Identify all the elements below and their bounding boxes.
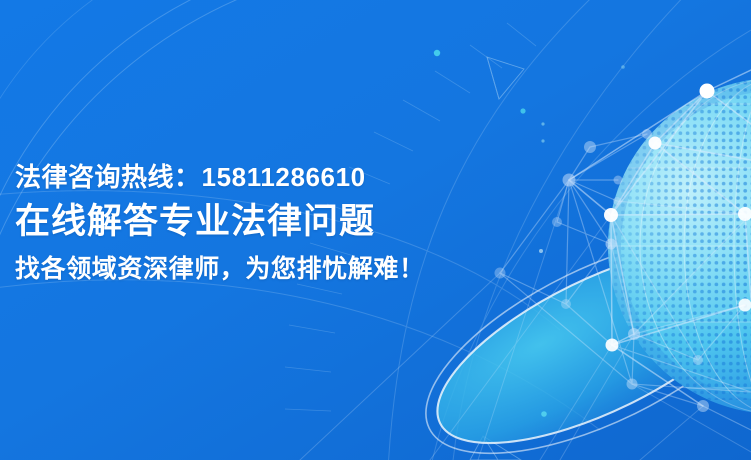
subheadline: 找各领域资深律师，为您排忧解难！ [15,249,425,289]
hotline-line: 法律咨询热线：15811286610 [15,158,425,196]
legal-consultation-banner: 法律咨询热线：15811286610 在线解答专业法律问题 找各领域资深律师，为… [0,0,751,460]
banner-copy: 法律咨询热线：15811286610 在线解答专业法律问题 找各领域资深律师，为… [15,158,425,289]
hotline-label: 法律咨询热线： [15,162,201,192]
hotline-phone-number: 15811286610 [201,162,366,192]
headline: 在线解答专业法律问题 [15,197,425,247]
